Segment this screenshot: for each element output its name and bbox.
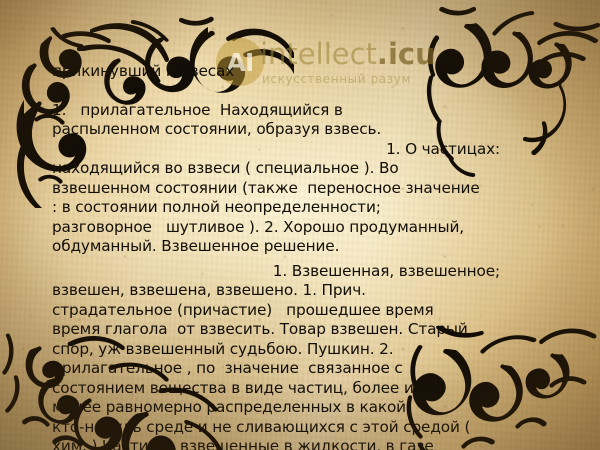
text-line: состоянием вещества в виде частиц, более…	[52, 379, 552, 399]
text-line: 1. О частицах:	[52, 140, 552, 160]
text-line: взвешенном состоянии (также переносное з…	[52, 179, 552, 199]
text-line: распыленном состоянии, образуя взвесь.	[52, 120, 552, 140]
text-line: разговорное шутливое ). 2. Хорошо продум…	[52, 218, 552, 238]
text-line: спор, уж взвешенный судьбою. Пушкин. 2.	[52, 340, 552, 360]
text-line: взвешен, взвешена, взвешено. 1. Прич.	[52, 281, 552, 301]
text-line: страдательное (причастие) прошедшее врем…	[52, 301, 552, 321]
text-line: обдуманный. Взвешенное решение.	[52, 237, 552, 257]
text-line: хим. ) Частицы, взвешенные в жидкости, в…	[52, 437, 552, 450]
paragraph-gap	[52, 82, 552, 101]
text-line: прилагательное , по значение связанное с	[52, 359, 552, 379]
heading-line: прикинувший на весах	[52, 62, 552, 82]
text-line: менее равномерно распределенных в какой	[52, 398, 552, 418]
text-line: находящийся во взвеси ( специальное ). В…	[52, 159, 552, 179]
slide-canvas: AI intellect.icu искусственный разум при…	[0, 0, 600, 450]
text-line: : в состоянии полной неопределенности;	[52, 198, 552, 218]
text-line: 1. прилагательное Находящийся в	[52, 101, 552, 121]
text-line: время глагола от взвесить. Товар взвешен…	[52, 320, 552, 340]
slide-text-body: прикинувший на весах 1. прилагательное Н…	[52, 62, 552, 450]
text-line: 1. Взвешенная, взвешенное;	[52, 262, 552, 282]
text-line: кто-нибудь среде и не сливающихся с этой…	[52, 418, 552, 438]
